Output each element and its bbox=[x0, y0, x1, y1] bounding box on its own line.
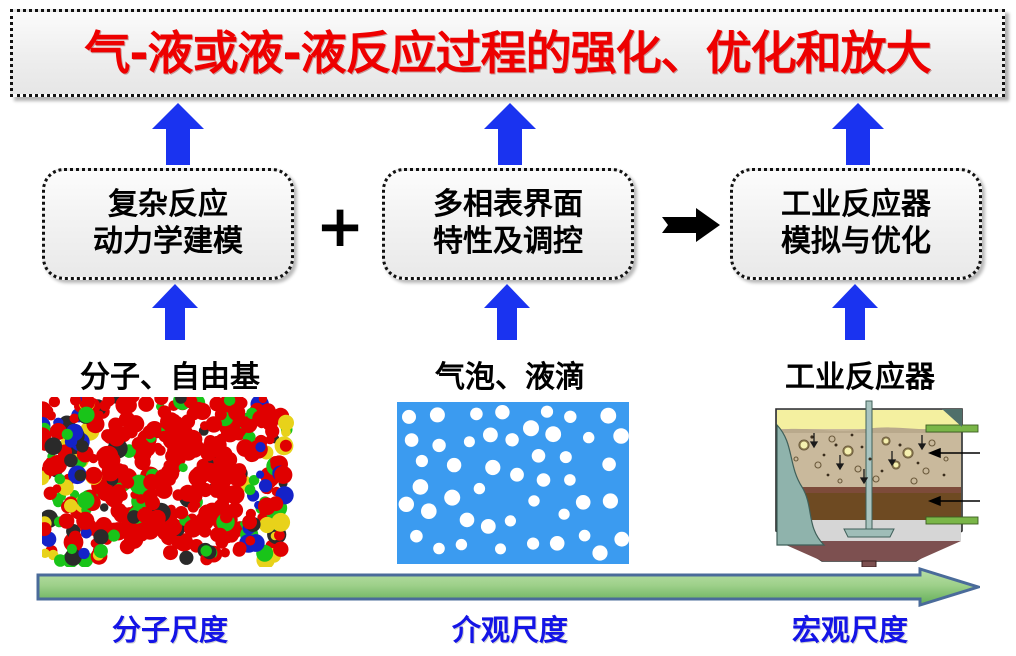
arrow-up-icon bbox=[484, 103, 536, 165]
title-banner: 气-液或液-液反应过程的强化、优化和放大 bbox=[10, 9, 1005, 97]
arrow-right-icon bbox=[662, 208, 720, 242]
industrial-reactor-image bbox=[766, 395, 981, 567]
arrow-up-icon bbox=[152, 284, 198, 340]
concept-line-2: 特性及调控 bbox=[433, 224, 583, 261]
slide-canvas: 气-液或液-液反应过程的强化、优化和放大 复杂反应 动力学建模 + 多相表界面 … bbox=[0, 0, 1016, 656]
concept-line-1: 工业反应器 bbox=[781, 187, 931, 224]
scale-label-meso: 介观尺度 bbox=[380, 607, 640, 649]
arrow-up-icon bbox=[484, 284, 530, 340]
bubbles-droplets-image bbox=[397, 402, 629, 564]
scale-caption-macro: 工业反应器 bbox=[720, 352, 1000, 396]
concept-line-1: 复杂反应 bbox=[108, 187, 228, 224]
scale-label-macro: 宏观尺度 bbox=[720, 607, 980, 649]
concept-box-interface-properties[interactable]: 多相表界面 特性及调控 bbox=[382, 168, 634, 280]
scale-caption-meso: 气泡、液滴 bbox=[370, 352, 650, 396]
molecular-dynamics-image bbox=[42, 397, 297, 567]
arrow-up-icon bbox=[832, 103, 884, 165]
arrow-up-icon bbox=[152, 103, 204, 165]
concept-line-1: 多相表界面 bbox=[433, 187, 583, 224]
scale-progression-arrow bbox=[36, 567, 980, 607]
plus-icon: + bbox=[308, 198, 372, 256]
concept-box-reaction-kinetics[interactable]: 复杂反应 动力学建模 bbox=[42, 168, 294, 280]
concept-box-reactor-simulation[interactable]: 工业反应器 模拟与优化 bbox=[730, 168, 982, 280]
scale-caption-molecular: 分子、自由基 bbox=[20, 352, 320, 396]
scale-label-molecular: 分子尺度 bbox=[40, 607, 300, 649]
arrow-up-icon bbox=[832, 284, 878, 340]
page-title: 气-液或液-液反应过程的强化、优化和放大 bbox=[84, 30, 930, 76]
concept-line-2: 模拟与优化 bbox=[781, 224, 931, 261]
concept-line-2: 动力学建模 bbox=[93, 224, 243, 261]
